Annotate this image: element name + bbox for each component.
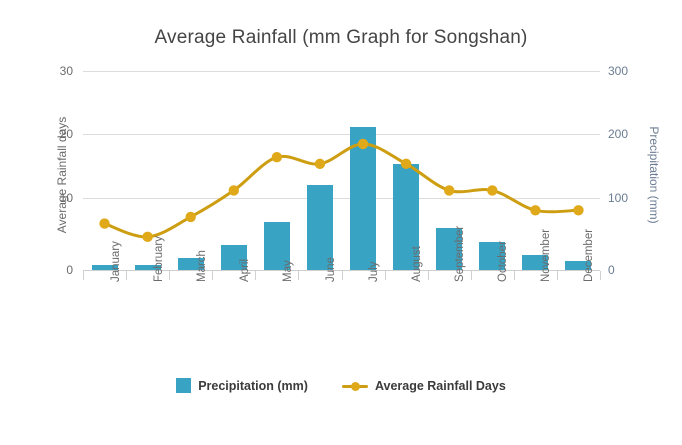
- y-axis-tick-30: 30: [33, 64, 73, 78]
- x-tick-4: [255, 271, 256, 280]
- chart-title: Average Rainfall (mm Graph for Songshan): [0, 27, 682, 49]
- line-marker-june[interactable]: [315, 159, 325, 169]
- line-marker-july[interactable]: [358, 139, 368, 149]
- x-label-january: January: [110, 241, 122, 282]
- y2-axis-tick-0: 0: [608, 263, 648, 277]
- line-marker-december[interactable]: [573, 205, 583, 215]
- chart-legend: Precipitation (mm) Average Rainfall Days: [0, 378, 682, 393]
- line-marker-august[interactable]: [401, 159, 411, 169]
- line-marker-april[interactable]: [229, 185, 239, 195]
- x-label-september: September: [454, 226, 466, 282]
- y-axis-title: Average Rainfall days: [55, 95, 69, 255]
- x-label-july: July: [368, 262, 380, 282]
- x-tick-6: [342, 271, 343, 280]
- x-tick-1: [126, 271, 127, 280]
- legend-square-icon: [176, 378, 191, 393]
- line-marker-january[interactable]: [99, 218, 109, 228]
- legend-item-rainfall-days[interactable]: Average Rainfall Days: [342, 379, 506, 393]
- y2-axis-tick-300: 300: [608, 64, 648, 78]
- legend-label-rainfall-days: Average Rainfall Days: [375, 379, 506, 393]
- y-axis-tick-0: 0: [33, 263, 73, 277]
- legend-item-precipitation[interactable]: Precipitation (mm): [176, 378, 308, 393]
- line-marker-march[interactable]: [186, 212, 196, 222]
- x-label-november: November: [540, 229, 552, 282]
- x-tick-3: [212, 271, 213, 280]
- rainfall-chart: Average Rainfall (mm Graph for Songshan)…: [0, 0, 682, 445]
- x-tick-7: [385, 271, 386, 280]
- line-marker-october[interactable]: [487, 185, 497, 195]
- line-marker-november[interactable]: [530, 205, 540, 215]
- x-label-may: May: [282, 260, 294, 282]
- x-tick-9: [471, 271, 472, 280]
- x-label-february: February: [153, 236, 165, 282]
- rainfall-days-line: [105, 144, 579, 237]
- y2-axis-title: Precipitation (mm): [647, 95, 661, 255]
- x-tick-10: [514, 271, 515, 280]
- legend-label-precipitation: Precipitation (mm): [198, 379, 308, 393]
- legend-line-dot-icon: [342, 380, 368, 392]
- y2-axis-tick-100: 100: [608, 191, 648, 205]
- x-label-august: August: [411, 246, 423, 282]
- y2-axis-tick-200: 200: [608, 127, 648, 141]
- x-tick-11: [557, 271, 558, 280]
- x-tick-0: [83, 271, 84, 280]
- line-marker-september[interactable]: [444, 185, 454, 195]
- x-tick-12: [600, 271, 601, 280]
- x-label-december: December: [583, 229, 595, 282]
- x-tick-8: [428, 271, 429, 280]
- x-label-october: October: [497, 241, 509, 282]
- line-marker-may[interactable]: [272, 152, 282, 162]
- x-label-march: March: [196, 250, 208, 282]
- x-tick-5: [298, 271, 299, 280]
- x-tick-2: [169, 271, 170, 280]
- x-label-june: June: [325, 257, 337, 282]
- line-marker-february[interactable]: [142, 232, 152, 242]
- x-label-april: April: [239, 259, 251, 282]
